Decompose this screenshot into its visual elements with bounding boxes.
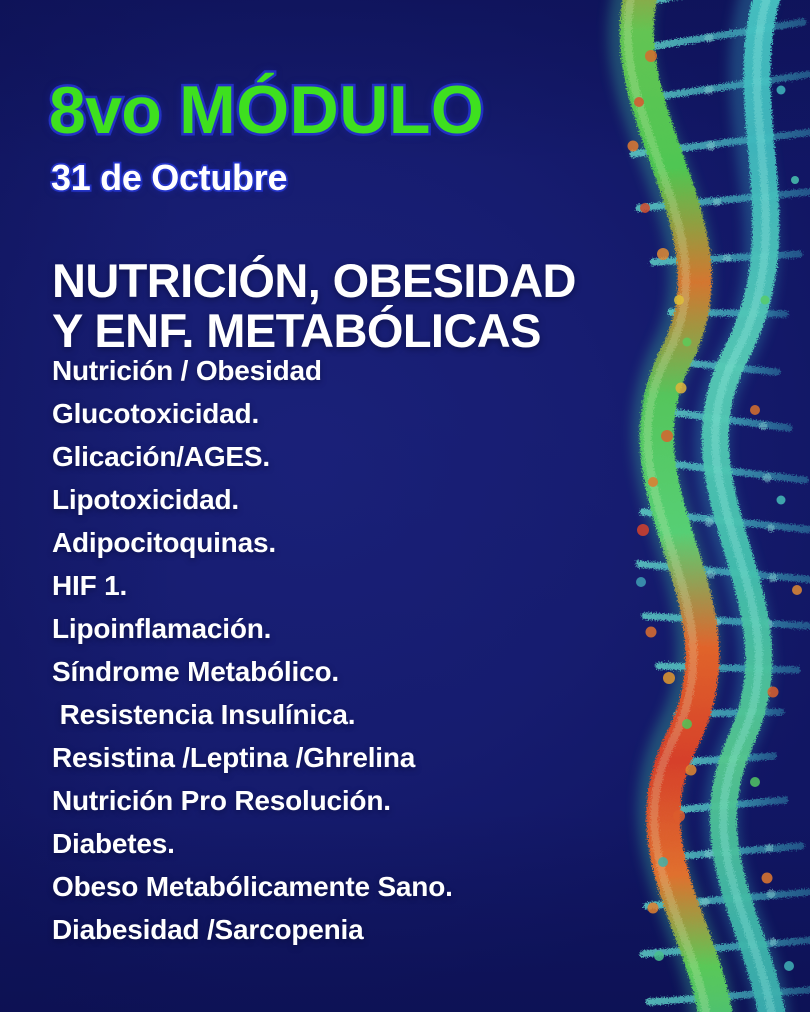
list-item: Nutrición Pro Resolución.	[52, 779, 453, 822]
list-item: Glicación/AGES.	[52, 435, 453, 478]
list-item: HIF 1.	[52, 564, 453, 607]
page-title: NUTRICIÓN, OBESIDAD Y ENF. METABÓLICAS	[52, 256, 576, 356]
module-title-ordinal: 8vo	[49, 73, 179, 147]
list-item: Diabetes.	[52, 822, 453, 865]
topic-list: Nutrición / Obesidad Glucotoxicidad. Gli…	[52, 349, 453, 951]
list-item: Diabesidad /Sarcopenia	[52, 908, 453, 951]
list-item: Lipoinflamación.	[52, 607, 453, 650]
list-item: Lipotoxicidad.	[52, 478, 453, 521]
module-title-word: MÓDULO	[179, 72, 484, 148]
page-title-line-1: NUTRICIÓN, OBESIDAD	[52, 256, 576, 306]
list-item: Obeso Metabólicamente Sano.	[52, 865, 453, 908]
list-item: Resistencia Insulínica.	[52, 693, 453, 736]
list-item: Glucotoxicidad.	[52, 392, 453, 435]
poster-canvas: 8vo MÓDULO 31 de Octubre NUTRICIÓN, OBES…	[0, 0, 810, 1012]
list-item: Resistina /Leptina /Ghrelina	[52, 736, 453, 779]
event-date: 31 de Octubre	[51, 160, 287, 196]
list-item: Adipocitoquinas.	[52, 521, 453, 564]
module-title: 8vo MÓDULO	[49, 76, 484, 144]
list-item: Síndrome Metabólico.	[52, 650, 453, 693]
list-item: Nutrición / Obesidad	[52, 349, 453, 392]
